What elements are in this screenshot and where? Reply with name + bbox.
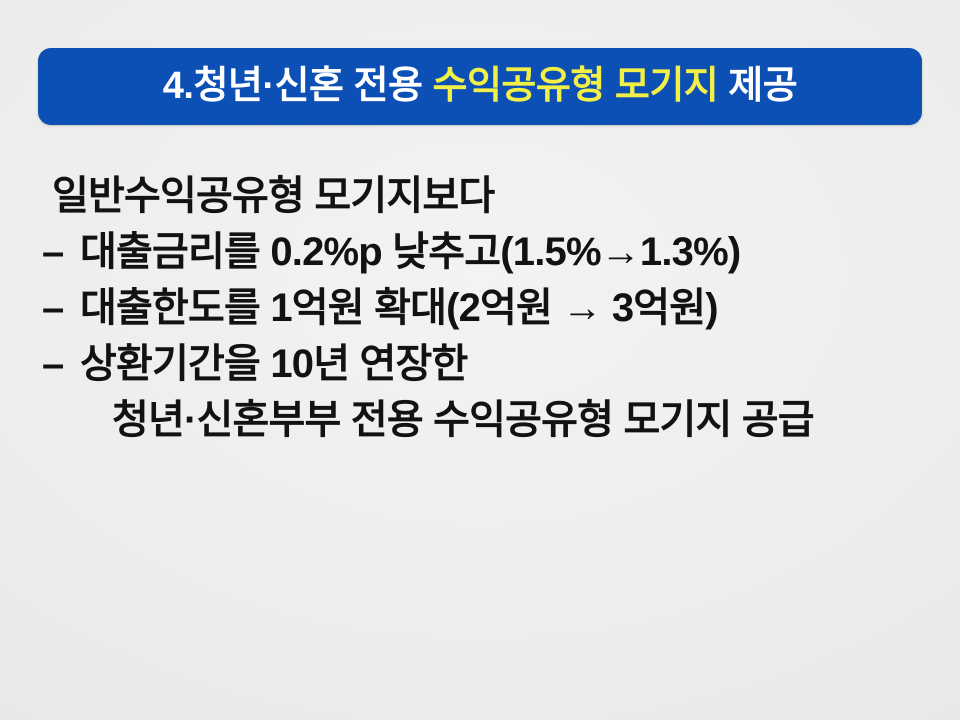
slide-title: 4.청년·신혼 전용 수익공유형 모기지 제공 bbox=[163, 67, 797, 107]
body-line-lead: 일반수익공유형 모기지보다 bbox=[0, 168, 960, 224]
body-line-bullet-2: – 대출한도를 1억원 확대(2억원 → 3억원) bbox=[0, 280, 960, 336]
body-line-text: 상환기간을 10년 연장한 bbox=[80, 336, 468, 392]
dash-bullet-icon: – bbox=[42, 224, 80, 280]
body-line-continuation: 청년·신혼부부 전용 수익공유형 모기지 공급 bbox=[0, 392, 960, 448]
slide-title-part-2: 제공 bbox=[718, 65, 797, 107]
presentation-slide: 4.청년·신혼 전용 수익공유형 모기지 제공 일반수익공유형 모기지보다 – … bbox=[0, 0, 960, 720]
body-line-text: 일반수익공유형 모기지보다 bbox=[52, 168, 494, 224]
body-line-bullet-3: – 상환기간을 10년 연장한 bbox=[0, 336, 960, 392]
dash-bullet-icon: – bbox=[42, 336, 80, 392]
body-line-text: 대출한도를 1억원 확대(2억원 → 3억원) bbox=[80, 280, 718, 336]
dash-bullet-icon: – bbox=[42, 280, 80, 336]
slide-title-part-1: 4.청년·신혼 전용 bbox=[163, 65, 433, 107]
slide-title-highlight: 수익공유형 모기지 bbox=[433, 65, 719, 107]
slide-body: 일반수익공유형 모기지보다 – 대출금리를 0.2%p 낮추고(1.5%→1.3… bbox=[0, 168, 960, 448]
body-line-text: 대출금리를 0.2%p 낮추고(1.5%→1.3%) bbox=[80, 224, 740, 280]
body-line-text: 청년·신혼부부 전용 수익공유형 모기지 공급 bbox=[112, 392, 814, 448]
slide-title-banner: 4.청년·신혼 전용 수익공유형 모기지 제공 bbox=[38, 48, 922, 125]
body-line-bullet-1: – 대출금리를 0.2%p 낮추고(1.5%→1.3%) bbox=[0, 224, 960, 280]
